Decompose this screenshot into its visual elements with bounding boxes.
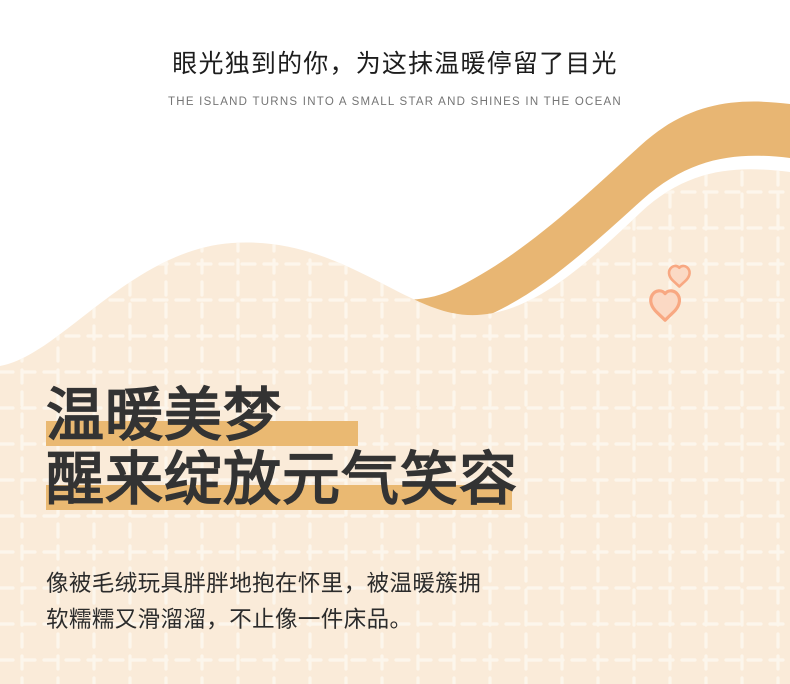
body-copy-line-1: 像被毛绒玩具胖胖地抱在怀里，被温暖簇拥: [46, 566, 566, 602]
headline-line-2: 醒来绽放元气笑容: [46, 448, 518, 510]
headline-block: 温暖美梦 醒来绽放元气笑容: [46, 384, 518, 510]
heart-large-icon: [651, 291, 680, 320]
header-title-english: THE ISLAND TURNS INTO A SMALL STAR AND S…: [0, 97, 790, 109]
heart-small-icon: [669, 266, 690, 287]
heart-decoration-group: [648, 262, 706, 328]
body-copy-block: 像被毛绒玩具胖胖地抱在怀里，被温暖簇拥 软糯糯又滑溜溜，不止像一件床品。: [46, 566, 566, 638]
headline-line-1: 温暖美梦: [46, 384, 518, 446]
headline-row-1: 温暖美梦: [46, 384, 518, 446]
body-copy-line-2: 软糯糯又滑溜溜，不止像一件床品。: [46, 602, 566, 638]
header: 眼光独到的你，为这抹温暖停留了目光 THE ISLAND TURNS INTO …: [0, 0, 790, 109]
poster-page: 眼光独到的你，为这抹温暖停留了目光 THE ISLAND TURNS INTO …: [0, 0, 790, 684]
headline-row-2: 醒来绽放元气笑容: [46, 448, 518, 510]
header-title-chinese: 眼光独到的你，为这抹温暖停留了目光: [0, 51, 790, 76]
